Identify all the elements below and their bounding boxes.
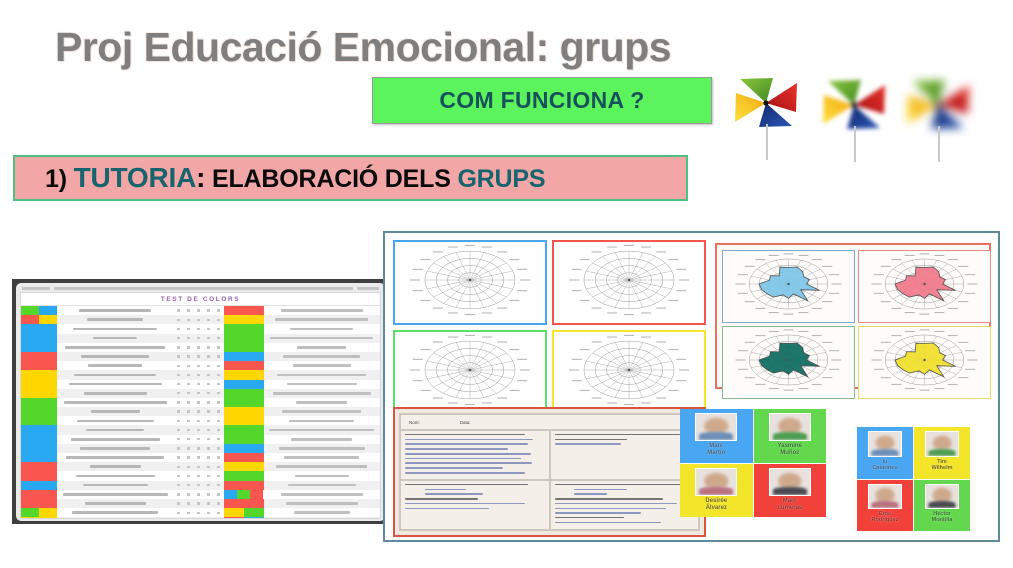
student-photo-card[interactable]: TimWilhelm [914, 427, 970, 479]
row-score-cell [194, 453, 204, 462]
row-label [57, 425, 174, 434]
row-label [57, 444, 174, 453]
row-score-cell [204, 324, 214, 333]
row-score-cell [184, 444, 194, 453]
row-score-cell [184, 407, 194, 416]
student-first-name: Yasmine [778, 443, 802, 449]
row-score-cell [214, 481, 224, 490]
table-row[interactable] [21, 416, 380, 425]
row-score-cell [204, 499, 214, 508]
row-score-cell [184, 315, 194, 324]
row-color-left [21, 517, 57, 519]
row-score-cell [184, 361, 194, 370]
row-description [264, 370, 381, 379]
row-score-cell [204, 471, 214, 480]
student-name-label: TimWilhelm [931, 459, 952, 472]
row-score-cell [194, 352, 204, 361]
row-color-left [21, 334, 57, 343]
row-color-right [224, 453, 264, 462]
banner-text: 1) TUTORIA: ELABORACIÓ DELS GRUPS [15, 162, 545, 194]
table-row[interactable] [21, 435, 380, 444]
row-description [264, 389, 381, 398]
row-description [264, 517, 381, 519]
worksheet-grid: Nom: Data: [399, 413, 700, 531]
color-swatch-yel [21, 389, 57, 398]
row-color-left [21, 453, 57, 462]
student-face-image [770, 469, 810, 495]
filled-radar-charts-photo[interactable] [715, 243, 991, 389]
student-last-name: Álvarez [706, 505, 727, 511]
row-score-cell [174, 324, 184, 333]
color-swatch-yel [21, 370, 57, 379]
row-description [264, 380, 381, 389]
table-row[interactable] [21, 490, 380, 499]
row-score-cell [194, 425, 204, 434]
color-swatch-grn [224, 435, 264, 444]
table-row[interactable] [21, 407, 380, 416]
table-row[interactable] [21, 425, 380, 434]
row-label [57, 370, 174, 379]
row-score-cell [184, 389, 194, 398]
worksheet-label-nom: Nom: [409, 420, 420, 425]
row-score-cell [204, 315, 214, 324]
row-score-cell [174, 361, 184, 370]
row-score-cell [174, 508, 184, 517]
row-description [264, 315, 381, 324]
color-swatch-red [224, 306, 264, 315]
row-label [57, 499, 174, 508]
worksheet-quadrant-3 [400, 480, 550, 530]
row-color-right [224, 306, 264, 315]
row-score-cell [214, 352, 224, 361]
color-swatch-red [21, 352, 57, 361]
callout-com-funciona[interactable]: COM FUNCIONA ? [372, 77, 712, 124]
color-swatch-grn [237, 490, 250, 499]
row-score-cell [184, 471, 194, 480]
row-label [57, 453, 174, 462]
row-color-right [224, 425, 264, 434]
row-score-cell [174, 425, 184, 434]
row-score-cell [174, 407, 184, 416]
row-label [57, 352, 174, 361]
table-row[interactable] [21, 471, 380, 480]
avatar [769, 413, 811, 441]
row-color-left [21, 315, 57, 324]
row-score-cell [214, 343, 224, 352]
spreadsheet-window: TEST DE COLORS [16, 283, 385, 521]
row-score-cell [204, 380, 214, 389]
row-description [264, 499, 381, 508]
pinwheel-logo-group [727, 70, 982, 162]
filled-radar-chart-red [858, 250, 991, 323]
row-description [264, 435, 381, 444]
row-color-left [21, 462, 57, 471]
table-row[interactable] [21, 361, 380, 370]
row-color-left [21, 343, 57, 352]
row-color-left [21, 306, 57, 315]
row-score-cell [174, 517, 184, 519]
row-label [57, 407, 174, 416]
row-score-cell [214, 490, 224, 499]
color-swatch-grn [224, 324, 264, 333]
row-score-cell [214, 435, 224, 444]
blank-radar-charts-sheet[interactable] [393, 240, 706, 402]
color-swatch-yel [21, 380, 57, 389]
filled-radar-chart-blue [722, 250, 855, 323]
row-score-cell [174, 389, 184, 398]
row-color-left [21, 352, 57, 361]
student-group-card-1[interactable]: MarcMartinYasmineMuñozDesiréeÁlvarezMarc… [680, 409, 826, 517]
student-photo-card[interactable]: MarcLumeras [754, 464, 827, 518]
table-row[interactable] [21, 324, 380, 333]
row-score-cell [184, 499, 194, 508]
student-name-label: MarcMartin [707, 443, 725, 457]
row-color-right [224, 462, 264, 471]
color-swatch-red [21, 490, 57, 499]
row-score-cell [174, 499, 184, 508]
row-color-left [21, 324, 57, 333]
student-name-label: HéctorMontilla [932, 511, 953, 524]
row-score-cell [184, 490, 194, 499]
row-score-cell [174, 343, 184, 352]
pinwheel-stick [854, 126, 856, 162]
row-score-cell [214, 324, 224, 333]
row-color-right [224, 499, 264, 508]
student-face-image [926, 432, 958, 456]
student-last-name: Catarineu [872, 465, 897, 471]
color-swatch-red [21, 499, 57, 508]
color-swatch-grn [224, 425, 264, 434]
row-score-cell [214, 499, 224, 508]
row-score-cell [214, 361, 224, 370]
spreadsheet-title: TEST DE COLORS [21, 293, 380, 306]
spreadsheet-toolbar [22, 285, 379, 292]
color-swatch-blu [21, 444, 57, 453]
row-score-cell [214, 508, 224, 517]
color-swatch-grn [21, 508, 39, 517]
row-color-left [21, 499, 57, 508]
row-score-cell [194, 416, 204, 425]
student-first-name: Iu [883, 459, 888, 465]
row-score-cell [184, 435, 194, 444]
row-label [57, 416, 174, 425]
row-score-cell [204, 398, 214, 407]
row-color-left [21, 435, 57, 444]
avatar [695, 413, 737, 441]
row-color-left [21, 508, 57, 517]
row-color-right [224, 361, 264, 370]
banner-keyword-grups: GRUPS [457, 165, 545, 193]
row-color-right [224, 315, 264, 324]
row-score-cell [184, 425, 194, 434]
color-swatch-blu [224, 490, 237, 499]
row-score-cell [194, 334, 204, 343]
row-score-cell [184, 352, 194, 361]
student-name-label: YasmineMuñoz [778, 443, 802, 457]
table-row[interactable] [21, 352, 380, 361]
photo-collage-panel: Nom: Data: [383, 231, 1000, 542]
row-score-cell [214, 471, 224, 480]
table-row[interactable] [21, 334, 380, 343]
row-description [264, 508, 381, 517]
spreadsheet-rows [21, 306, 380, 519]
row-score-cell [194, 361, 204, 370]
row-color-left [21, 425, 57, 434]
row-description [264, 324, 381, 333]
row-score-cell [214, 517, 224, 519]
row-label [57, 462, 174, 471]
row-score-cell [184, 481, 194, 490]
row-label [57, 508, 174, 517]
row-score-cell [184, 380, 194, 389]
table-row[interactable] [21, 481, 380, 490]
table-row[interactable] [21, 315, 380, 324]
row-score-cell [174, 416, 184, 425]
row-score-cell [194, 444, 204, 453]
banner-number: 1) [45, 165, 67, 193]
student-photo-card[interactable]: YasmineMuñoz [754, 409, 827, 463]
row-score-cell [214, 416, 224, 425]
color-swatch-yel [39, 315, 57, 324]
row-label [57, 517, 174, 519]
student-face-image [770, 414, 810, 440]
table-row[interactable] [21, 380, 380, 389]
row-description [264, 481, 381, 490]
color-swatch-blu [21, 343, 57, 352]
table-row[interactable] [21, 389, 380, 398]
student-photo-card[interactable]: HéctorMontilla [914, 480, 970, 532]
row-description [264, 490, 381, 499]
row-score-cell [174, 306, 184, 315]
student-last-name: Rodriguez [872, 517, 899, 523]
row-label [57, 315, 174, 324]
row-score-cell [174, 435, 184, 444]
spreadsheet-grid: TEST DE COLORS [20, 292, 381, 519]
student-photo-card[interactable]: MarcMartin [680, 409, 753, 463]
row-score-cell [184, 334, 194, 343]
student-group-card-2[interactable]: IuCatarineuTimWilhelmErosRodriguezHéctor… [857, 427, 970, 531]
row-score-cell [194, 343, 204, 352]
row-label [57, 398, 174, 407]
student-name-label: IuCatarineu [872, 459, 897, 472]
row-score-cell [204, 343, 214, 352]
row-description [264, 425, 381, 434]
test-de-colors-spreadsheet[interactable]: TEST DE COLORS [12, 279, 388, 524]
color-swatch-blu [21, 453, 57, 462]
row-description [264, 352, 381, 361]
row-score-cell [194, 499, 204, 508]
row-score-cell [184, 508, 194, 517]
row-score-cell [194, 389, 204, 398]
row-score-cell [184, 343, 194, 352]
row-score-cell [194, 435, 204, 444]
color-swatch-grn [224, 471, 264, 480]
row-score-cell [194, 490, 204, 499]
color-swatch-red [224, 361, 264, 370]
student-first-name: Desirée [705, 498, 727, 504]
row-color-right [224, 343, 264, 352]
table-row[interactable] [21, 517, 380, 519]
avatar [925, 484, 959, 510]
student-photo-card[interactable]: ErosRodriguez [857, 480, 913, 532]
student-face-image [696, 469, 736, 495]
row-score-cell [194, 481, 204, 490]
row-description [264, 471, 381, 480]
table-row[interactable] [21, 370, 380, 379]
color-swatch-grn [21, 416, 57, 425]
table-row[interactable] [21, 462, 380, 471]
student-first-name: Tim [937, 459, 947, 465]
row-score-cell [204, 370, 214, 379]
row-score-cell [214, 398, 224, 407]
table-row[interactable] [21, 306, 380, 315]
row-label [57, 324, 174, 333]
row-score-cell [214, 453, 224, 462]
row-score-cell [184, 370, 194, 379]
row-score-cell [204, 453, 214, 462]
row-score-cell [184, 306, 194, 315]
row-score-cell [214, 334, 224, 343]
color-swatch-grn [224, 343, 264, 352]
row-score-cell [184, 324, 194, 333]
avatar [868, 431, 902, 457]
table-row[interactable] [21, 398, 380, 407]
row-color-right [224, 398, 264, 407]
student-photo-card[interactable]: IuCatarineu [857, 427, 913, 479]
table-row[interactable] [21, 499, 380, 508]
row-score-cell [214, 306, 224, 315]
row-color-right [224, 352, 264, 361]
row-color-right [224, 416, 264, 425]
color-swatch-yel [224, 508, 244, 517]
row-description [264, 453, 381, 462]
row-color-left [21, 444, 57, 453]
table-row[interactable] [21, 508, 380, 517]
row-score-cell [184, 416, 194, 425]
row-label [57, 471, 174, 480]
row-color-left [21, 471, 57, 480]
row-score-cell [184, 517, 194, 519]
row-color-right [224, 471, 264, 480]
slide-canvas: Proj Educació Emocional: grups COM FUNCI… [0, 0, 1013, 568]
row-score-cell [194, 471, 204, 480]
row-color-right [224, 370, 264, 379]
pinwheel-spinning-fast-icon [899, 72, 977, 164]
avatar [925, 431, 959, 457]
row-score-cell [194, 398, 204, 407]
row-score-cell [204, 435, 214, 444]
row-description [264, 462, 381, 471]
row-color-right [224, 490, 264, 499]
row-score-cell [174, 481, 184, 490]
color-swatch-blu [224, 380, 264, 389]
row-color-left [21, 389, 57, 398]
color-swatch-red [224, 453, 264, 462]
banner-colon: : [196, 162, 205, 193]
row-color-left [21, 481, 57, 490]
row-color-right [224, 517, 264, 519]
row-score-cell [204, 361, 214, 370]
color-swatch-red [250, 490, 263, 499]
row-score-cell [214, 462, 224, 471]
pinwheel-stick [766, 124, 768, 160]
color-swatch-yel [224, 416, 264, 425]
row-score-cell [204, 407, 214, 416]
callout-label: COM FUNCIONA ? [439, 87, 644, 114]
avatar [769, 468, 811, 496]
blank-radar-chart-green [393, 330, 547, 415]
color-swatch-yel [224, 370, 264, 379]
table-row[interactable] [21, 453, 380, 462]
row-score-cell [204, 517, 214, 519]
row-label [57, 334, 174, 343]
row-score-cell [194, 370, 204, 379]
row-description [264, 444, 381, 453]
row-label [57, 435, 174, 444]
color-swatch-grn [21, 407, 57, 416]
handwritten-worksheet-photo[interactable]: Nom: Data: [393, 407, 706, 537]
table-row[interactable] [21, 444, 380, 453]
row-color-left [21, 370, 57, 379]
table-row[interactable] [21, 343, 380, 352]
row-color-right [224, 334, 264, 343]
color-swatch-grn [21, 398, 57, 407]
color-swatch-yel [224, 462, 264, 471]
row-color-left [21, 490, 57, 499]
row-score-cell [214, 389, 224, 398]
worksheet-quadrant-2 [550, 430, 700, 480]
color-swatch-grn [21, 306, 39, 315]
row-label [57, 389, 174, 398]
student-first-name: Marc [783, 498, 797, 504]
student-photo-card[interactable]: DesiréeÁlvarez [680, 464, 753, 518]
blank-radar-chart-blue [393, 240, 547, 325]
section-banner-tutoria[interactable]: 1) TUTORIA: ELABORACIÓ DELS GRUPS [13, 155, 688, 201]
blank-radar-chart-red [552, 240, 706, 325]
color-swatch-grn [244, 508, 264, 517]
row-description [264, 407, 381, 416]
avatar [695, 468, 737, 496]
row-score-cell [174, 315, 184, 324]
color-swatch-blu [21, 324, 57, 333]
filled-radar-chart-yellow [858, 326, 991, 399]
row-score-cell [174, 490, 184, 499]
row-color-left [21, 361, 57, 370]
row-score-cell [194, 462, 204, 471]
row-color-right [224, 407, 264, 416]
row-score-cell [204, 481, 214, 490]
row-score-cell [204, 508, 214, 517]
row-score-cell [174, 453, 184, 462]
row-score-cell [174, 444, 184, 453]
row-label [57, 481, 174, 490]
color-swatch-blu [21, 425, 57, 434]
row-score-cell [204, 389, 214, 398]
color-swatch-red [21, 462, 57, 471]
student-first-name: Marc [709, 443, 723, 449]
row-label [57, 343, 174, 352]
row-score-cell [214, 444, 224, 453]
filled-radar-grid [722, 250, 984, 382]
row-description [264, 416, 381, 425]
row-score-cell [204, 306, 214, 315]
row-score-cell [184, 462, 194, 471]
row-label [57, 361, 174, 370]
row-score-cell [174, 334, 184, 343]
blank-radar-chart-yellow [552, 330, 706, 415]
color-swatch-yel [21, 517, 57, 519]
student-name-label: ErosRodriguez [872, 511, 899, 524]
